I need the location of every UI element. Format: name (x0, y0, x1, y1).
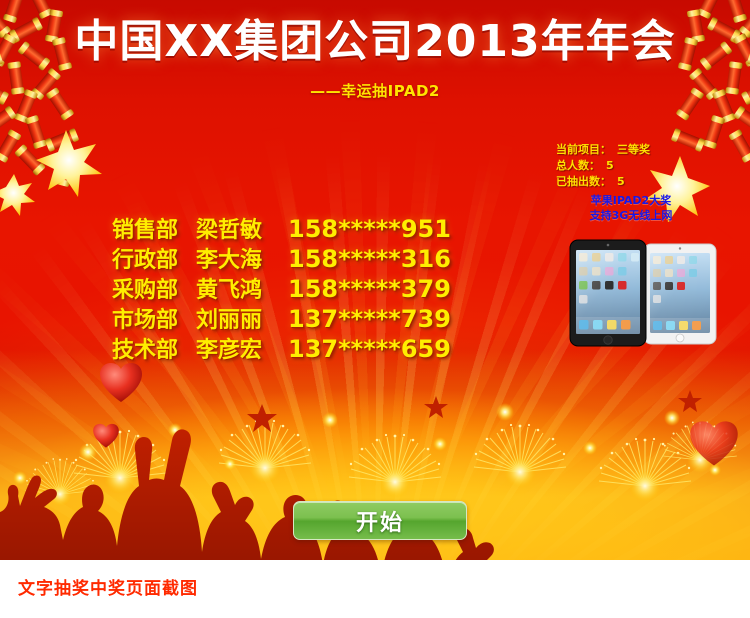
prize-name-line: 苹果IPAD2大奖 (556, 193, 706, 208)
winner-name: 李大海 (196, 242, 288, 274)
lottery-poster: 中国XX集团公司2013年年会 ——幸运抽IPAD2 当前项目：三等奖 总人数：… (0, 0, 750, 560)
winner-name: 李彦宏 (196, 332, 288, 364)
caption-strip: 文字抽奖中奖页面截图 (0, 560, 750, 618)
winner-dept: 技术部 (112, 332, 196, 364)
winner-phone: 158*****951 (288, 215, 451, 243)
poster-header: 中国XX集团公司2013年年会 ——幸运抽IPAD2 (0, 18, 750, 101)
winner-row: 行政部 李大海 158*****316 (112, 242, 472, 270)
winner-phone: 137*****739 (288, 305, 451, 333)
winner-dept: 市场部 (112, 302, 196, 334)
info-label-total-people: 总人数： (556, 158, 600, 174)
winner-name: 刘丽丽 (196, 302, 288, 334)
info-row-total-people: 总人数：5 (556, 158, 746, 174)
screenshot-root: 中国XX集团公司2013年年会 ——幸运抽IPAD2 当前项目：三等奖 总人数：… (0, 0, 750, 618)
winner-list: 销售部 梁哲敏 158*****951 行政部 李大海 158*****316 … (112, 212, 472, 362)
info-row-drawn-count: 已抽出数：5 (556, 174, 746, 190)
winner-row: 技术部 李彦宏 137*****659 (112, 332, 472, 360)
page-title: 中国XX集团公司2013年年会 (0, 18, 750, 66)
info-row-current-prize: 当前项目：三等奖 (556, 142, 746, 158)
caption-text: 文字抽奖中奖页面截图 (18, 574, 198, 599)
ipad-black (570, 240, 646, 346)
winner-name: 黄飞鸿 (196, 272, 288, 304)
info-panel: 当前项目：三等奖 总人数：5 已抽出数：5 苹果IPAD2大奖 支持3G无线上网 (556, 142, 746, 223)
winner-dept: 销售部 (112, 212, 196, 244)
start-button[interactable]: 开始 (293, 501, 467, 540)
page-subtitle: ——幸运抽IPAD2 (0, 80, 750, 101)
ipad-product-image (560, 238, 720, 350)
info-label-drawn-count: 已抽出数： (556, 174, 611, 190)
start-button-label: 开始 (356, 505, 404, 537)
winner-dept: 行政部 (112, 242, 196, 274)
info-value-drawn-count: 5 (617, 174, 625, 190)
winner-row: 销售部 梁哲敏 158*****951 (112, 212, 472, 240)
info-value-current-prize: 三等奖 (617, 142, 650, 158)
info-value-total-people: 5 (606, 158, 614, 174)
winner-phone: 137*****659 (288, 335, 451, 363)
info-label-current-prize: 当前项目： (556, 142, 611, 158)
winner-row: 市场部 刘丽丽 137*****739 (112, 302, 472, 330)
winner-phone: 158*****316 (288, 245, 451, 273)
winner-phone: 158*****379 (288, 275, 451, 303)
prize-feature-line: 支持3G无线上网 (556, 208, 706, 223)
ipad-white (644, 244, 716, 344)
winner-name: 梁哲敏 (196, 212, 288, 244)
winner-dept: 采购部 (112, 272, 196, 304)
winner-row: 采购部 黄飞鸿 158*****379 (112, 272, 472, 300)
